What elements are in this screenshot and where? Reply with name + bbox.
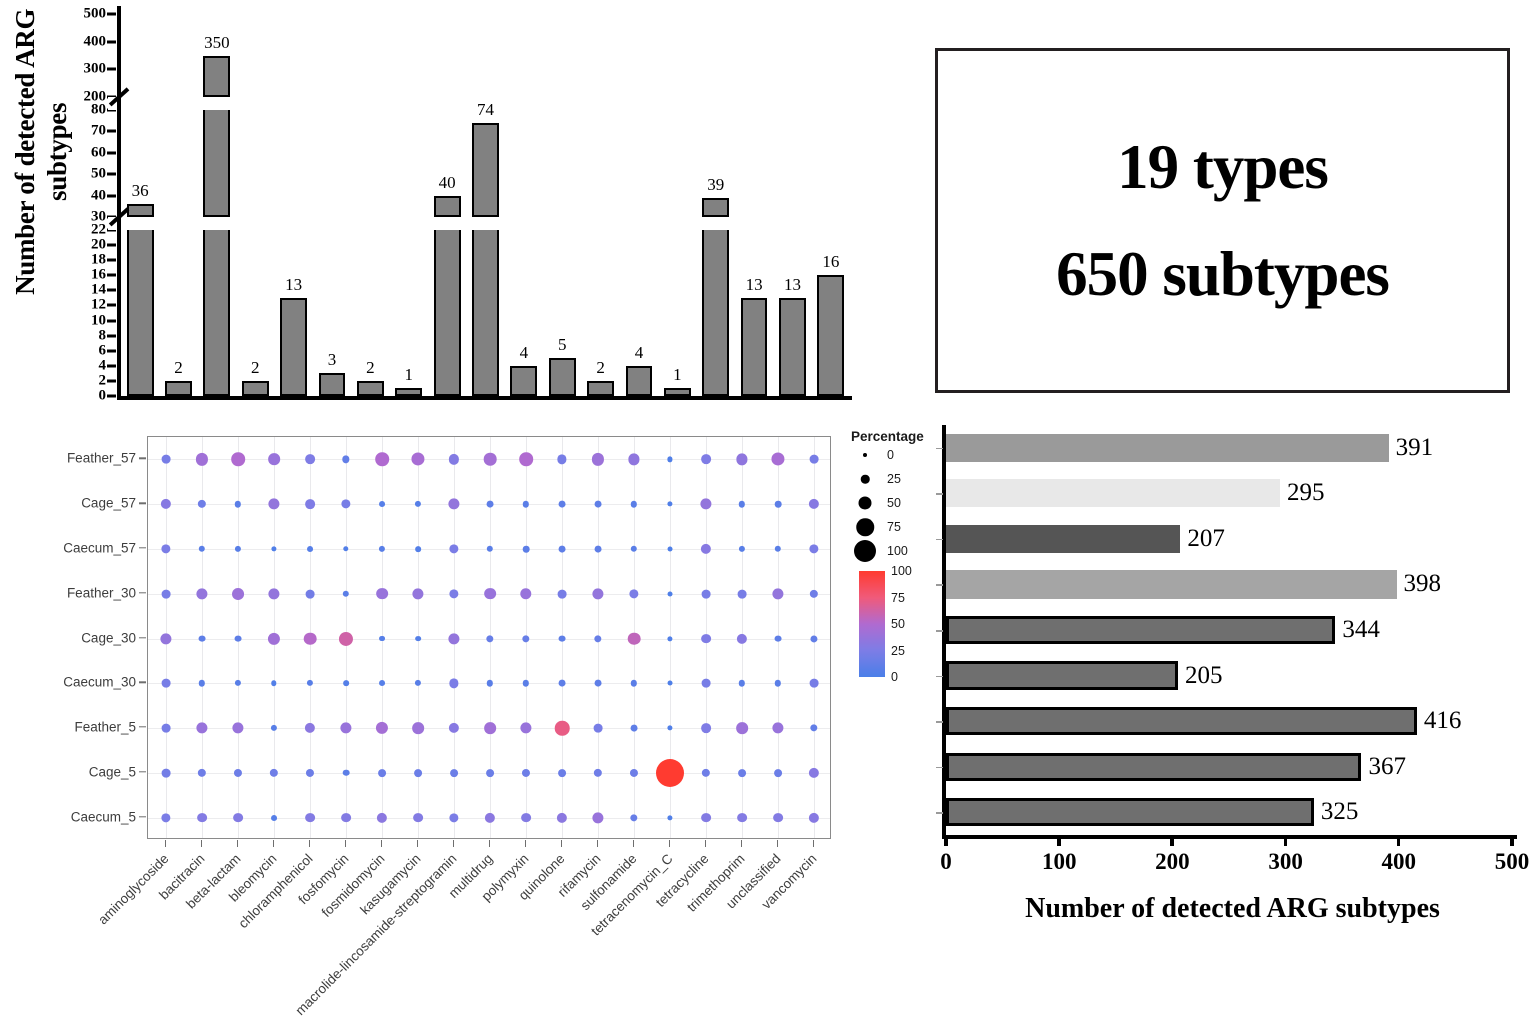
bubble-marker xyxy=(414,769,422,777)
bubble-marker xyxy=(448,499,459,510)
legend-size-dot xyxy=(863,453,867,457)
bubble-x-axis-tick xyxy=(525,840,526,847)
bar-value-label: 1 xyxy=(673,365,682,385)
bubble-marker xyxy=(271,815,277,821)
bubble-marker xyxy=(235,635,242,642)
bar xyxy=(127,230,154,396)
bubble-marker xyxy=(343,591,349,597)
hbar-y-axis-tick xyxy=(936,721,943,723)
bubble-x-axis-tick xyxy=(777,840,778,847)
bubble-marker xyxy=(595,546,602,553)
bubble-marker xyxy=(737,633,747,643)
bubble-y-axis-label: Caecum_30 xyxy=(63,675,136,690)
bubble-marker xyxy=(413,813,423,823)
y-axis-tick-label: 30 xyxy=(91,210,106,225)
y-axis-tick-label: 22 xyxy=(91,223,106,238)
bar-value-label: 13 xyxy=(746,275,763,295)
bubble-marker xyxy=(449,544,458,553)
bar xyxy=(203,56,230,98)
bubble-marker xyxy=(486,635,493,642)
bubble-marker xyxy=(592,812,603,823)
bubble-marker xyxy=(484,453,497,466)
bubble-marker xyxy=(595,501,602,508)
bubble-marker xyxy=(449,813,458,822)
bubble-marker xyxy=(415,546,421,552)
bubble-x-axis-tick xyxy=(453,840,454,847)
horizontal-bar-value-label: 344 xyxy=(1342,616,1380,644)
horizontal-bar-value-label: 398 xyxy=(1404,570,1442,598)
bubble-marker xyxy=(630,769,638,777)
bubble-marker xyxy=(342,456,349,463)
legend-size-dot xyxy=(861,475,870,484)
bar-value-label: 2 xyxy=(174,358,183,378)
bar xyxy=(779,298,806,396)
hbar-x-axis-tick xyxy=(944,835,948,846)
y-axis-tick-label: 70 xyxy=(91,124,106,139)
bubble-marker xyxy=(775,635,782,642)
horizontal-bar xyxy=(946,570,1397,598)
bubble-marker xyxy=(486,769,494,777)
bubble-marker xyxy=(558,769,566,777)
y-axis-tick-label: 20 xyxy=(91,238,106,253)
bubble-y-axis-tick xyxy=(139,816,146,817)
bubble-marker xyxy=(449,454,459,464)
bar xyxy=(664,388,691,396)
hbar-y-axis-tick xyxy=(936,812,943,814)
bar-value-label: 3 xyxy=(328,350,337,370)
bubble-plot-frame xyxy=(147,436,831,839)
bubble-x-axis-tick xyxy=(705,840,706,847)
bubble-marker xyxy=(162,724,171,733)
bubble-marker xyxy=(198,500,206,508)
types-count-text: 19 types xyxy=(1117,136,1328,199)
bubble-marker xyxy=(810,455,819,464)
bubble-marker xyxy=(668,681,673,686)
y-axis-tick-mark xyxy=(107,173,116,176)
bubble-marker xyxy=(304,632,317,645)
bubble-marker xyxy=(772,722,783,733)
bubble-marker xyxy=(341,500,350,509)
bubble-marker xyxy=(558,589,567,598)
y-axis-tick-mark xyxy=(107,259,116,262)
legend-color-value: 0 xyxy=(891,670,898,684)
bubble-marker xyxy=(271,681,276,686)
hbar-y-axis-tick xyxy=(936,767,943,769)
horizontal-bar xyxy=(946,479,1280,507)
y-axis-tick-mark xyxy=(107,40,116,43)
bubble-marker xyxy=(449,679,458,688)
bubble-marker xyxy=(484,588,496,600)
bar-value-label: 40 xyxy=(439,173,456,193)
bubble-marker xyxy=(162,455,171,464)
bubble-marker xyxy=(378,769,386,777)
bar-value-label: 1 xyxy=(405,365,414,385)
bubble-marker xyxy=(161,544,170,553)
hbar-x-axis-tick xyxy=(1397,835,1401,846)
bubble-marker xyxy=(268,632,280,644)
bar xyxy=(165,381,192,396)
bubble-marker xyxy=(343,770,350,777)
bubble-marker xyxy=(339,631,353,645)
horizontal-bar-value-label: 295 xyxy=(1287,479,1325,507)
bubble-marker xyxy=(736,722,748,734)
y-axis-tick-mark xyxy=(107,289,116,292)
bar xyxy=(203,230,230,396)
y-axis-tick-mark xyxy=(107,334,116,337)
bubble-marker xyxy=(737,813,747,823)
legend-size-dot xyxy=(856,518,874,536)
bubble-marker xyxy=(379,680,385,686)
bubble-marker xyxy=(199,546,205,552)
bubble-y-axis-label: Feather_5 xyxy=(74,720,136,735)
legend-size-value: 100 xyxy=(887,544,908,558)
bubble-x-axis-tick xyxy=(633,840,634,847)
y-axis-tick-mark xyxy=(107,319,116,322)
bubble-marker xyxy=(702,679,711,688)
bubble-y-axis-label: Cage_30 xyxy=(81,630,136,645)
bubble-marker xyxy=(559,635,566,642)
bar xyxy=(702,230,729,396)
bubble-marker xyxy=(631,725,638,732)
bar xyxy=(472,123,499,217)
bubble-marker xyxy=(199,635,206,642)
legend-color-value: 25 xyxy=(891,644,905,658)
bubble-marker xyxy=(196,722,207,733)
bubble-y-axis-label: Feather_57 xyxy=(67,451,136,466)
bar-value-label: 13 xyxy=(285,275,302,295)
bubble-x-axis-tick xyxy=(309,840,310,847)
bubble-marker xyxy=(656,759,684,787)
bubble-marker xyxy=(160,633,171,644)
bubble-marker xyxy=(377,812,387,822)
bubble-y-axis-tick xyxy=(139,726,146,727)
bubble-marker xyxy=(594,769,602,777)
y-axis-tick-label: 80 xyxy=(91,103,106,118)
bubble-marker xyxy=(809,812,819,822)
hbar-y-axis-tick xyxy=(936,448,943,450)
bar-value-label: 2 xyxy=(596,358,605,378)
bubble-marker xyxy=(810,635,817,642)
bubble-marker xyxy=(196,453,208,465)
y-axis-tick-mark xyxy=(107,395,116,398)
bubble-y-axis-tick xyxy=(139,637,146,638)
bubble-marker xyxy=(199,680,205,686)
bubble-marker xyxy=(485,812,495,822)
bubble-marker xyxy=(484,722,496,734)
bubble-marker xyxy=(343,680,349,686)
y-axis-tick-label: 8 xyxy=(99,328,107,343)
bar xyxy=(587,381,614,396)
bubble-marker xyxy=(271,546,276,551)
bubble-marker xyxy=(775,546,781,552)
bubble-marker xyxy=(559,680,566,687)
bubble-marker xyxy=(448,633,459,644)
bubble-marker xyxy=(772,588,783,599)
bubble-y-axis-tick xyxy=(139,502,146,503)
horizontal-bar xyxy=(946,616,1335,644)
bar xyxy=(626,366,653,396)
hbar-x-axis-tick xyxy=(1510,835,1514,846)
y-axis-tick-label: 300 xyxy=(84,62,107,77)
bubble-marker xyxy=(667,502,672,507)
bubble-marker xyxy=(775,501,782,508)
y-axis-tick-label: 40 xyxy=(91,188,106,203)
sample-bar-chart-panel: 391295207398344205416367325 010020030040… xyxy=(930,425,1535,999)
subtypes-count-text: 650 subtypes xyxy=(1056,243,1389,306)
horizontal-bar xyxy=(946,661,1178,689)
bar xyxy=(702,198,729,217)
y-axis-tick-label: 12 xyxy=(91,298,106,313)
horizontal-bar-value-label: 367 xyxy=(1368,753,1406,781)
bubble-marker xyxy=(196,588,207,599)
bubble-marker xyxy=(809,499,819,509)
bubble-marker xyxy=(450,769,458,777)
bubble-marker xyxy=(231,453,245,467)
bubble-marker xyxy=(198,769,206,777)
hbar-y-axis-tick xyxy=(936,584,943,586)
y-axis-tick-label: 14 xyxy=(91,283,106,298)
y-axis-tick-mark xyxy=(107,274,116,277)
bubble-marker xyxy=(522,769,530,777)
bar-value-label: 4 xyxy=(635,343,644,363)
bar-value-label: 36 xyxy=(132,181,149,201)
bubble-marker xyxy=(810,590,818,598)
bubble-x-axis-tick xyxy=(165,840,166,847)
hbar-y-axis-tick xyxy=(936,630,943,632)
bubble-marker xyxy=(235,680,241,686)
axis-break-mark xyxy=(110,215,132,231)
bubble-marker xyxy=(594,724,603,733)
types-subtypes-summary-box: 19 types 650 subtypes xyxy=(935,48,1510,393)
hbar-x-axis-tick xyxy=(1170,835,1174,846)
bubble-marker xyxy=(305,723,315,733)
legend-title: Percentage xyxy=(851,429,924,444)
bubble-marker xyxy=(628,632,641,645)
bubble-x-axis-tick xyxy=(417,840,418,847)
bubble-marker xyxy=(376,722,388,734)
bubble-marker xyxy=(594,635,601,642)
y-axis-tick-mark xyxy=(107,304,116,307)
bubble-x-axis-tick xyxy=(237,840,238,847)
y-axis-tick-label: 6 xyxy=(99,343,107,358)
bubble-x-axis-tick xyxy=(669,840,670,847)
bubble-marker xyxy=(810,679,819,688)
y-axis-tick-label: 400 xyxy=(84,34,107,49)
bubble-y-axis-label: Cage_57 xyxy=(81,496,136,511)
bar xyxy=(203,110,230,217)
bubble-marker xyxy=(592,453,604,465)
legend-size-value: 50 xyxy=(887,496,901,510)
bubble-marker xyxy=(487,501,494,508)
bubble-y-axis-tick xyxy=(139,592,146,593)
y-axis-tick-mark xyxy=(107,364,116,367)
hbar-x-axis-title: Number of detected ARG subtypes xyxy=(930,893,1535,925)
bubble-marker xyxy=(162,679,171,688)
y-axis-tick-label: 0 xyxy=(99,389,107,404)
horizontal-bar-value-label: 207 xyxy=(1187,525,1225,553)
bubble-y-axis-tick xyxy=(139,771,146,772)
bubble-marker xyxy=(809,768,819,778)
hbar-x-axis-tick-label: 300 xyxy=(1268,849,1303,875)
bar-chart-x-axis-line xyxy=(117,396,852,400)
horizontal-bar-value-label: 325 xyxy=(1321,798,1359,826)
y-axis-tick-label: 16 xyxy=(91,268,106,283)
y-axis-tick-label: 18 xyxy=(91,253,106,268)
bubble-plot-grid xyxy=(148,437,830,838)
hbar-x-axis-tick-label: 100 xyxy=(1042,849,1077,875)
bubble-marker xyxy=(774,769,782,777)
bubble-marker xyxy=(161,813,170,822)
bubble-marker xyxy=(268,588,279,599)
bubble-marker xyxy=(233,813,243,823)
bubble-y-axis-tick xyxy=(139,682,146,683)
y-axis-tick-mark xyxy=(107,379,116,382)
bubble-marker xyxy=(700,499,711,510)
bar xyxy=(357,381,384,396)
y-axis-tick-mark xyxy=(107,194,116,197)
bubble-marker xyxy=(271,725,277,731)
bubble-x-axis-tick xyxy=(561,840,562,847)
bar xyxy=(395,388,422,396)
hbar-x-axis-line xyxy=(942,835,1517,839)
legend-size-dot xyxy=(859,497,872,510)
bubble-marker xyxy=(736,454,747,465)
bubble-marker xyxy=(739,546,745,552)
bubble-marker xyxy=(487,680,493,686)
bar-value-label: 350 xyxy=(204,33,230,53)
bubble-marker xyxy=(702,589,711,598)
bubble-marker xyxy=(412,722,424,734)
bar-value-label: 2 xyxy=(366,358,375,378)
bar-value-label: 74 xyxy=(477,100,494,120)
bubble-marker xyxy=(809,544,818,553)
bubble-marker xyxy=(197,813,207,823)
bubble-marker xyxy=(415,501,421,507)
bubble-marker xyxy=(232,588,244,600)
bubble-marker xyxy=(739,680,745,686)
bubble-marker xyxy=(519,453,533,467)
hbar-x-axis-tick xyxy=(1284,835,1288,846)
bubble-y-axis-tick xyxy=(139,458,146,459)
bar-value-label: 2 xyxy=(251,358,260,378)
bubble-marker xyxy=(810,724,817,731)
bubble-marker xyxy=(305,455,315,465)
bubble-x-axis-tick xyxy=(597,840,598,847)
y-axis-tick-label: 4 xyxy=(99,358,107,373)
bubble-x-axis-tick xyxy=(741,840,742,847)
legend-color-value: 75 xyxy=(891,591,905,605)
bubble-marker xyxy=(557,812,567,822)
bubble-marker xyxy=(701,634,711,644)
bar-value-label: 13 xyxy=(784,275,801,295)
bubble-marker xyxy=(520,722,531,733)
bubble-marker xyxy=(449,589,458,598)
bubble-y-axis-label: Feather_30 xyxy=(67,585,136,600)
y-axis-tick-label: 200 xyxy=(84,90,107,105)
y-axis-tick-label: 60 xyxy=(91,145,106,160)
bubble-marker xyxy=(631,501,637,507)
bubble-marker xyxy=(630,814,637,821)
bubble-marker xyxy=(702,769,710,777)
bubble-marker xyxy=(738,769,746,777)
bubble-marker xyxy=(522,635,529,642)
horizontal-bar xyxy=(946,753,1361,781)
bar-value-label: 4 xyxy=(520,343,529,363)
bubble-marker xyxy=(559,501,566,508)
bubble-marker xyxy=(232,722,243,733)
bubble-marker xyxy=(376,588,388,600)
bubble-marker xyxy=(701,813,711,823)
bubble-marker xyxy=(701,544,711,554)
legend-color-value: 50 xyxy=(891,617,905,631)
y-axis-tick-label: 10 xyxy=(91,313,106,328)
bubble-marker xyxy=(268,499,279,510)
bubble-x-axis-tick xyxy=(813,840,814,847)
bar xyxy=(280,298,307,396)
bar-chart-y-axis-ticks: 0246810121416182022304050607080200300400… xyxy=(56,0,116,404)
bubble-x-axis-tick xyxy=(201,840,202,847)
hbar-x-axis-tick-label: 0 xyxy=(940,849,952,875)
bubble-marker xyxy=(235,501,241,507)
bubble-x-axis-tick xyxy=(273,840,274,847)
hbar-x-axis-tick-label: 200 xyxy=(1155,849,1190,875)
axis-break-mark xyxy=(110,95,132,111)
y-axis-tick-mark xyxy=(107,244,116,247)
y-axis-tick-mark xyxy=(107,13,116,16)
bubble-marker xyxy=(415,680,421,686)
bubble-marker xyxy=(628,454,639,465)
bar xyxy=(817,275,844,396)
bubble-marker xyxy=(555,721,570,736)
bubble-marker xyxy=(307,680,313,686)
hbar-y-axis-tick xyxy=(936,539,943,541)
hbar-y-axis-tick xyxy=(936,493,943,495)
bubble-marker xyxy=(379,636,385,642)
arg-type-bar-chart-panel: Number of detected ARG subtypes 02468101… xyxy=(0,0,900,420)
bubble-marker xyxy=(411,453,424,466)
bubble-marker xyxy=(162,589,171,598)
bubble-y-axis-label: Caecum_57 xyxy=(63,540,136,555)
y-axis-tick-mark xyxy=(107,68,116,71)
bubble-marker xyxy=(629,589,638,598)
bubble-marker xyxy=(379,501,385,507)
legend-color-value: 100 xyxy=(891,564,912,578)
bubble-marker xyxy=(773,813,783,823)
bar-value-label: 39 xyxy=(707,175,724,195)
bar-chart-y-axis-line xyxy=(117,6,121,399)
legend-size-dot xyxy=(854,540,876,562)
bubble-marker xyxy=(415,636,421,642)
bubble-marker xyxy=(305,813,315,823)
bubble-marker xyxy=(343,546,348,551)
bar-value-label: 16 xyxy=(822,252,839,272)
bubble-plot-legend: Percentage 0255075100 0255075100 xyxy=(843,425,938,685)
bubble-marker xyxy=(523,546,530,553)
bubble-marker xyxy=(235,546,241,552)
bubble-marker xyxy=(667,815,672,820)
bubble-marker xyxy=(668,546,673,551)
bar xyxy=(434,230,461,396)
y-axis-tick-mark xyxy=(107,151,116,154)
hbar-x-axis-tick-label: 400 xyxy=(1382,849,1417,875)
bubble-marker xyxy=(667,725,672,730)
horizontal-bar-value-label: 391 xyxy=(1396,434,1434,462)
bubble-marker xyxy=(340,722,351,733)
bar xyxy=(741,298,768,396)
hbar-x-axis-tick xyxy=(1057,835,1061,846)
bubble-x-axis-tick xyxy=(381,840,382,847)
bubble-marker xyxy=(487,546,493,552)
